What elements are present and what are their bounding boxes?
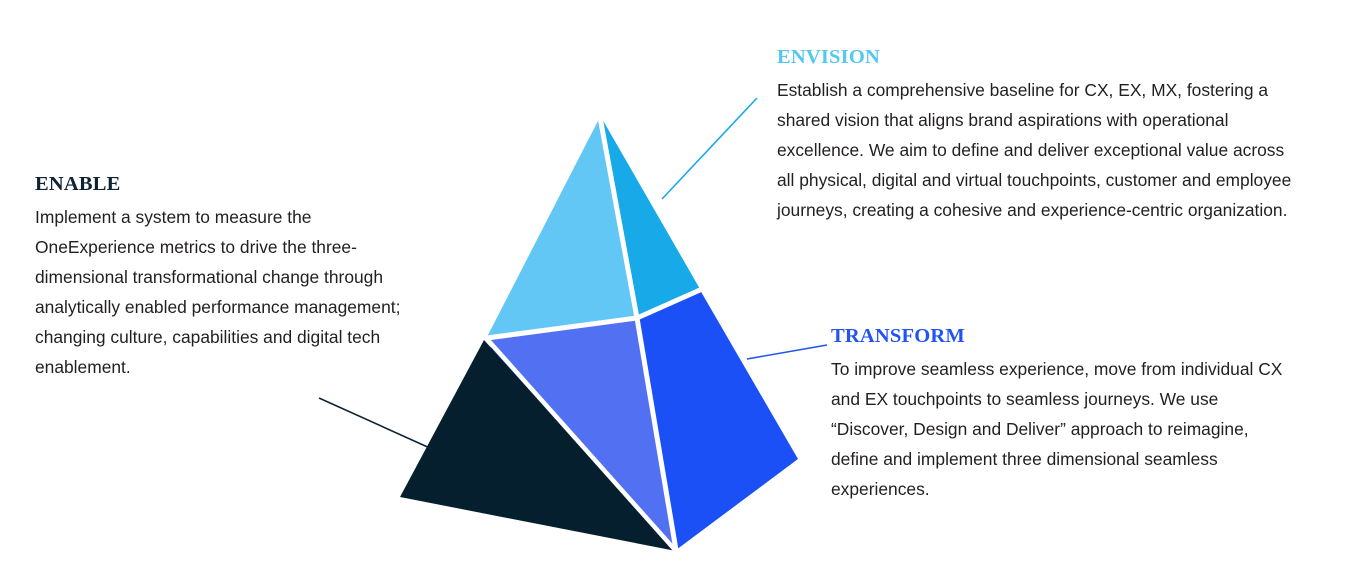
- diagram-canvas: ENABLE Implement a system to measure the…: [0, 0, 1352, 587]
- pyramid-edge-band-right: [637, 290, 700, 318]
- pyramid-face-front-left-lower-ext: [487, 338, 676, 550]
- transform-heading: TRANSFORM: [831, 325, 1295, 348]
- pyramid-face-right-lower: [637, 290, 798, 550]
- envision-heading: ENVISION: [777, 46, 1301, 69]
- pyramid-edge-left-base: [487, 339, 676, 551]
- enable-text-block: ENABLE Implement a system to measure the…: [35, 173, 427, 382]
- envision-body: Establish a comprehensive baseline for C…: [777, 75, 1301, 225]
- pyramid-edge-apex-ridge: [600, 117, 637, 318]
- pyramid-face-left-navy: [400, 340, 676, 551]
- enable-heading: ENABLE: [35, 173, 427, 196]
- pyramid-face-upper-left: [487, 117, 637, 337]
- leader-line-envision: [662, 98, 757, 199]
- pyramid-face-upper-right: [601, 117, 700, 317]
- leader-line-enable: [319, 398, 432, 449]
- leader-line-transform: [747, 345, 827, 359]
- transform-body: To improve seamless experience, move fro…: [831, 354, 1295, 504]
- pyramid-edge-front-ridge-lower: [637, 318, 676, 550]
- enable-body: Implement a system to measure the OneExp…: [35, 202, 427, 382]
- pyramid-edge-band-left: [487, 318, 637, 338]
- envision-text-block: ENVISION Establish a comprehensive basel…: [777, 46, 1301, 225]
- pyramid-face-front-left-lower: [487, 318, 676, 550]
- transform-text-block: TRANSFORM To improve seamless experience…: [831, 325, 1295, 504]
